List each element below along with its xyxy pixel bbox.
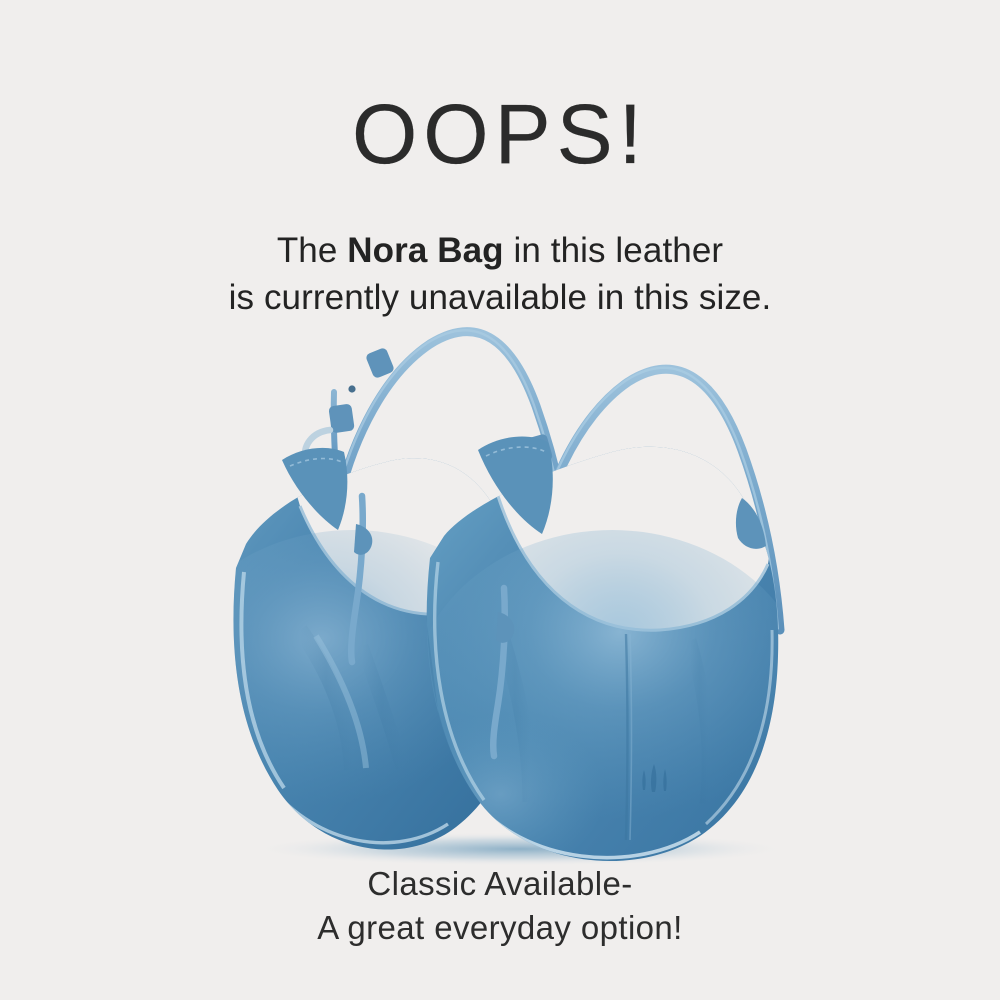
rear-bag-strap-keeper-upper [365, 347, 395, 379]
oops-notice-card: OOPS! The Nora Bag in this leather is cu… [0, 0, 1000, 1000]
alternative-suggestion: Classic Available- A great everyday opti… [0, 862, 1000, 950]
handbags-illustration [0, 300, 1000, 870]
alternative-suggestion-line-1: Classic Available- [0, 862, 1000, 906]
availability-message-line-1: The Nora Bag in this leather [0, 228, 1000, 275]
page-title: OOPS! [0, 92, 1000, 176]
availability-message-suffix: in this leather [504, 231, 724, 270]
alternative-suggestion-line-2: A great everyday option! [0, 906, 1000, 950]
rear-bag-strap-rivet [348, 385, 355, 392]
product-image [0, 300, 1000, 870]
availability-message-prefix: The [277, 231, 347, 270]
product-name-highlight: Nora Bag [347, 231, 503, 270]
